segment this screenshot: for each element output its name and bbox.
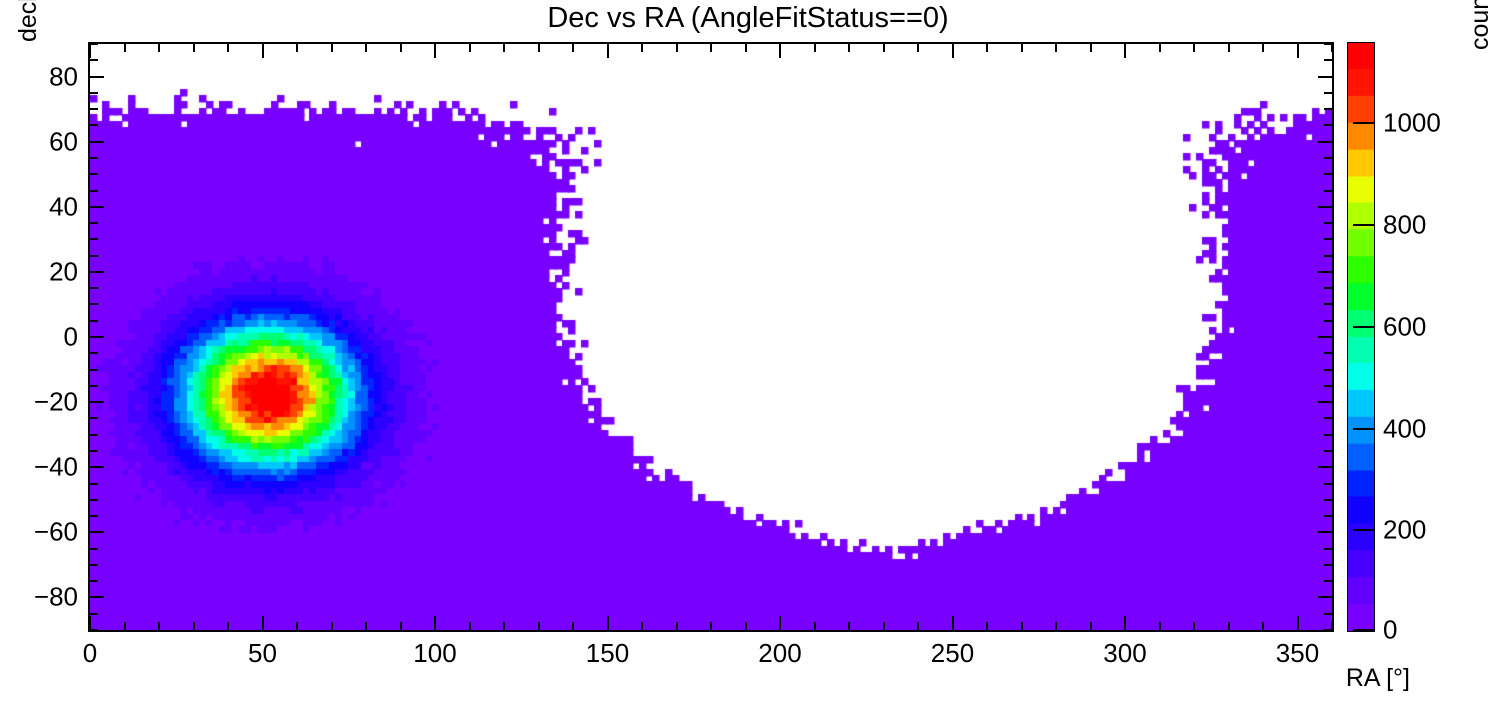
- x-tick: [469, 622, 471, 630]
- y-tick: [90, 531, 104, 533]
- y-tick-right: [1324, 92, 1332, 94]
- y-tick: [90, 417, 98, 419]
- x-tick-top: [193, 44, 195, 52]
- y-tick-right: [1318, 206, 1332, 208]
- x-tick-top: [814, 44, 816, 52]
- y-tick: [90, 92, 98, 94]
- x-tick: [883, 622, 885, 630]
- y-tick-right: [1324, 369, 1332, 371]
- y-tick-right: [1318, 531, 1332, 533]
- y-tick-right: [1324, 580, 1332, 582]
- y-tick: [90, 466, 104, 468]
- x-tick: [1193, 622, 1195, 630]
- x-tick: [952, 616, 954, 630]
- y-tick-right: [1324, 124, 1332, 126]
- y-tick: [90, 401, 104, 403]
- y-tick-label: −20: [0, 387, 78, 418]
- x-tick-label: 100: [413, 638, 456, 669]
- x-tick-label: 300: [1103, 638, 1146, 669]
- y-tick-right: [1324, 417, 1332, 419]
- y-tick-right: [1324, 352, 1332, 354]
- y-tick: [90, 385, 98, 387]
- x-tick-top: [1090, 44, 1092, 52]
- y-tick-right: [1324, 434, 1332, 436]
- x-tick-top: [641, 44, 643, 52]
- x-tick-top: [400, 44, 402, 52]
- x-tick-top: [331, 44, 333, 52]
- y-tick: [90, 108, 98, 110]
- x-tick-top: [1159, 44, 1161, 52]
- colorbar-title: count: [1466, 0, 1495, 50]
- colorbar-tick-label: 1000: [1383, 108, 1441, 139]
- colorbar-tick: [1353, 122, 1375, 124]
- y-tick: [90, 613, 98, 615]
- x-tick: [538, 622, 540, 630]
- x-tick: [1124, 616, 1126, 630]
- x-tick: [1159, 622, 1161, 630]
- x-tick-top: [1262, 44, 1264, 52]
- y-tick: [90, 43, 98, 45]
- colorbar-tick-label: 600: [1383, 311, 1426, 342]
- x-axis-title: RA [°]: [1346, 664, 1410, 693]
- y-tick: [90, 499, 98, 501]
- x-tick: [262, 616, 264, 630]
- x-tick: [331, 622, 333, 630]
- y-tick-right: [1324, 515, 1332, 517]
- x-tick-top: [1331, 44, 1333, 52]
- y-tick: [90, 352, 98, 354]
- y-tick: [90, 255, 98, 257]
- x-tick: [848, 622, 850, 630]
- x-tick: [710, 622, 712, 630]
- x-tick: [676, 622, 678, 630]
- colorbar-canvas: [1348, 43, 1374, 631]
- y-tick: [90, 369, 98, 371]
- y-tick: [90, 548, 98, 550]
- y-tick-right: [1324, 222, 1332, 224]
- y-tick-right: [1324, 190, 1332, 192]
- y-tick-right: [1324, 43, 1332, 45]
- y-tick: [90, 59, 98, 61]
- y-tick-right: [1324, 450, 1332, 452]
- y-tick-right: [1324, 499, 1332, 501]
- y-tick-right: [1318, 141, 1332, 143]
- x-tick-label: 250: [931, 638, 974, 669]
- x-tick: [400, 622, 402, 630]
- y-tick: [90, 76, 104, 78]
- y-tick-right: [1324, 385, 1332, 387]
- y-tick: [90, 238, 98, 240]
- plot-frame: [88, 42, 1334, 632]
- x-tick: [1262, 622, 1264, 630]
- y-tick-right: [1324, 320, 1332, 322]
- y-tick-label: −60: [0, 517, 78, 548]
- y-tick: [90, 303, 98, 305]
- y-tick-label: −40: [0, 452, 78, 483]
- x-tick: [227, 622, 229, 630]
- x-tick-label: 350: [1276, 638, 1319, 669]
- y-tick-right: [1318, 596, 1332, 598]
- x-tick: [158, 622, 160, 630]
- x-tick: [1297, 616, 1299, 630]
- y-tick-right: [1324, 303, 1332, 305]
- x-tick-label: 200: [758, 638, 801, 669]
- x-tick: [296, 622, 298, 630]
- page-title: Dec vs RA (AngleFitStatus==0): [0, 2, 1496, 35]
- x-tick-top: [124, 44, 126, 52]
- colorbar-title-wrapper: count: [1466, 50, 1496, 250]
- y-tick-right: [1324, 108, 1332, 110]
- y-axis-title-wrapper: declination [°]: [14, 42, 44, 342]
- x-tick-top: [296, 44, 298, 52]
- y-tick: [90, 190, 98, 192]
- colorbar-tick: [1353, 326, 1375, 328]
- y-tick-right: [1324, 613, 1332, 615]
- y-tick-right: [1318, 336, 1332, 338]
- x-tick-top: [607, 44, 609, 58]
- colorbar-tick: [1353, 629, 1375, 631]
- y-tick: [90, 173, 98, 175]
- x-tick-top: [952, 44, 954, 58]
- x-tick-top: [710, 44, 712, 52]
- x-tick: [779, 616, 781, 630]
- x-tick-top: [227, 44, 229, 52]
- x-tick: [365, 622, 367, 630]
- x-tick: [124, 622, 126, 630]
- colorbar-tick-label: 400: [1383, 413, 1426, 444]
- y-tick: [90, 450, 98, 452]
- x-tick: [193, 622, 195, 630]
- x-tick-top: [89, 44, 91, 58]
- x-tick: [1055, 622, 1057, 630]
- y-tick: [90, 515, 98, 517]
- x-tick: [1090, 622, 1092, 630]
- histogram-canvas: [90, 44, 1332, 630]
- x-tick-top: [158, 44, 160, 52]
- y-axis-title: declination [°]: [14, 0, 43, 42]
- x-tick: [986, 622, 988, 630]
- y-tick-right: [1324, 564, 1332, 566]
- x-tick-label: 50: [248, 638, 277, 669]
- x-tick-label: 0: [83, 638, 97, 669]
- x-tick-top: [503, 44, 505, 52]
- x-tick-top: [1228, 44, 1230, 52]
- y-tick-right: [1318, 466, 1332, 468]
- y-tick: [90, 157, 98, 159]
- x-tick: [89, 616, 91, 630]
- x-tick: [572, 622, 574, 630]
- colorbar-tick-label: 200: [1383, 515, 1426, 546]
- colorbar-tick: [1353, 428, 1375, 430]
- colorbar-tick: [1353, 529, 1375, 531]
- y-tick-right: [1318, 76, 1332, 78]
- x-tick-top: [676, 44, 678, 52]
- y-tick: [90, 580, 98, 582]
- x-tick: [434, 616, 436, 630]
- x-tick-top: [1193, 44, 1195, 52]
- x-tick-top: [917, 44, 919, 52]
- x-tick-top: [1124, 44, 1126, 58]
- y-tick: [90, 596, 104, 598]
- x-tick-top: [848, 44, 850, 52]
- y-tick: [90, 434, 98, 436]
- y-tick: [90, 124, 98, 126]
- y-tick-right: [1324, 157, 1332, 159]
- colorbar-tick-label: 800: [1383, 210, 1426, 241]
- colorbar: [1347, 42, 1375, 632]
- y-tick: [90, 222, 98, 224]
- x-tick-top: [262, 44, 264, 58]
- x-tick-top: [434, 44, 436, 58]
- x-tick: [641, 622, 643, 630]
- y-tick: [90, 287, 98, 289]
- x-tick: [745, 622, 747, 630]
- y-tick: [90, 206, 104, 208]
- y-tick: [90, 564, 98, 566]
- y-tick-right: [1324, 629, 1332, 631]
- x-tick-label: 150: [586, 638, 629, 669]
- y-tick-right: [1324, 548, 1332, 550]
- x-tick: [917, 622, 919, 630]
- y-tick-right: [1324, 238, 1332, 240]
- x-tick-top: [572, 44, 574, 52]
- colorbar-tick: [1353, 224, 1375, 226]
- y-tick-right: [1324, 255, 1332, 257]
- y-tick-right: [1324, 287, 1332, 289]
- y-tick-right: [1318, 271, 1332, 273]
- y-tick: [90, 483, 98, 485]
- y-tick: [90, 141, 104, 143]
- y-tick-right: [1318, 401, 1332, 403]
- x-tick-top: [986, 44, 988, 52]
- x-tick: [607, 616, 609, 630]
- colorbar-tick-label: 0: [1383, 615, 1397, 646]
- x-tick-top: [365, 44, 367, 52]
- x-tick-top: [779, 44, 781, 58]
- y-tick-label: −80: [0, 582, 78, 613]
- x-tick: [1021, 622, 1023, 630]
- x-tick-top: [469, 44, 471, 52]
- x-tick-top: [1297, 44, 1299, 58]
- x-tick-top: [1055, 44, 1057, 52]
- y-tick-right: [1324, 59, 1332, 61]
- y-tick-right: [1324, 173, 1332, 175]
- y-tick: [90, 336, 104, 338]
- x-tick-top: [745, 44, 747, 52]
- x-tick-top: [538, 44, 540, 52]
- y-tick: [90, 271, 104, 273]
- x-tick-top: [1021, 44, 1023, 52]
- x-tick: [503, 622, 505, 630]
- root-canvas: Dec vs RA (AngleFitStatus==0) 0501001502…: [0, 0, 1496, 722]
- x-tick-top: [883, 44, 885, 52]
- x-tick: [814, 622, 816, 630]
- y-tick: [90, 629, 98, 631]
- y-tick: [90, 320, 98, 322]
- y-tick-right: [1324, 483, 1332, 485]
- x-tick: [1228, 622, 1230, 630]
